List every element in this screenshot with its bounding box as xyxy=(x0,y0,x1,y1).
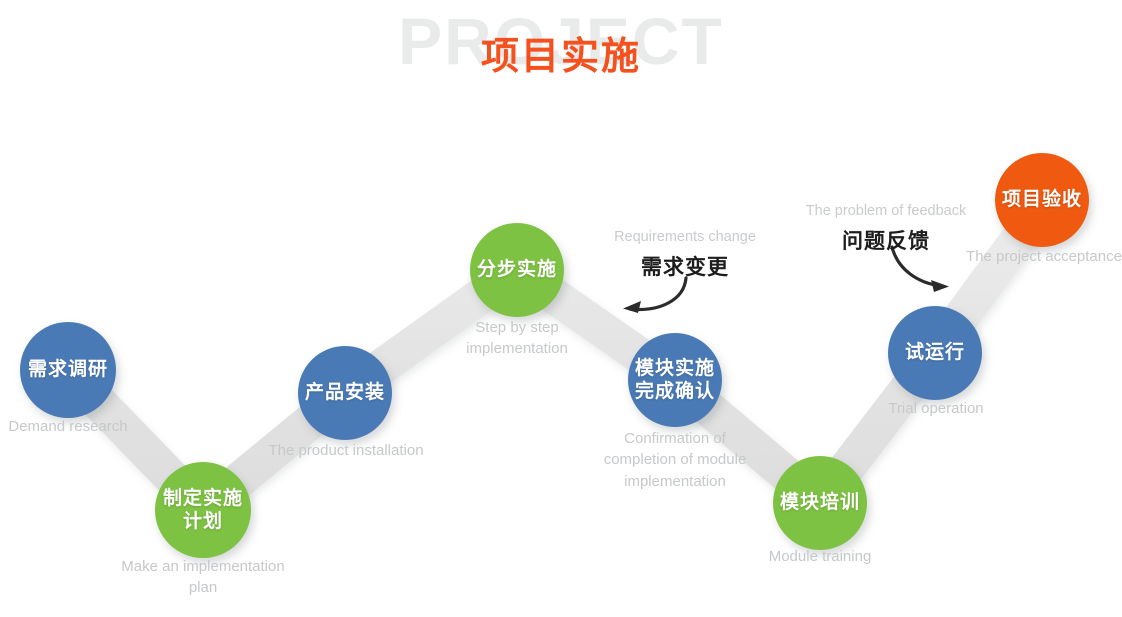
process-node-2-label: 制定实施 计划 xyxy=(155,487,251,533)
process-node-2[interactable]: 制定实施 计划 xyxy=(155,462,251,558)
process-node-6-label: 模块培训 xyxy=(776,491,864,514)
slide-canvas: PROJECT 项目实施 xyxy=(0,0,1122,617)
process-node-3-caption: The product installation xyxy=(258,440,434,461)
process-node-1-caption: Demand research xyxy=(0,416,158,437)
process-node-3-label: 产品安装 xyxy=(301,381,389,404)
process-node-8[interactable]: 项目验收 xyxy=(995,153,1089,247)
process-node-6[interactable]: 模块培训 xyxy=(773,456,867,550)
process-node-7[interactable]: 试运行 xyxy=(888,306,982,400)
process-node-5[interactable]: 模块实施 完成确认 xyxy=(628,333,722,427)
curved-arrow-left-icon xyxy=(623,278,686,313)
process-node-1[interactable]: 需求调研 xyxy=(20,322,116,418)
annotation-2-chinese: 问题反馈 xyxy=(788,225,984,255)
process-node-7-caption: Trial operation xyxy=(868,398,1004,419)
annotation-2-english: The problem of feedback xyxy=(788,203,984,219)
process-node-5-label: 模块实施 完成确认 xyxy=(628,357,722,403)
process-node-1-label: 需求调研 xyxy=(24,358,112,381)
annotation-1-english: Requirements change xyxy=(600,229,770,245)
process-node-7-label: 试运行 xyxy=(901,341,969,364)
process-node-4-label: 分步实施 xyxy=(473,258,561,281)
process-node-4[interactable]: 分步实施 xyxy=(470,223,564,317)
annotation-1-chinese: 需求变更 xyxy=(600,251,770,281)
process-node-6-caption: Module training xyxy=(748,546,892,567)
process-node-3[interactable]: 产品安装 xyxy=(298,346,392,440)
process-node-4-caption: Step by step implementation xyxy=(447,317,587,360)
process-node-2-caption: Make an implementation plan xyxy=(103,556,303,599)
process-node-8-label: 项目验收 xyxy=(998,188,1086,211)
process-node-5-caption: Confirmation of completion of module imp… xyxy=(597,428,753,492)
